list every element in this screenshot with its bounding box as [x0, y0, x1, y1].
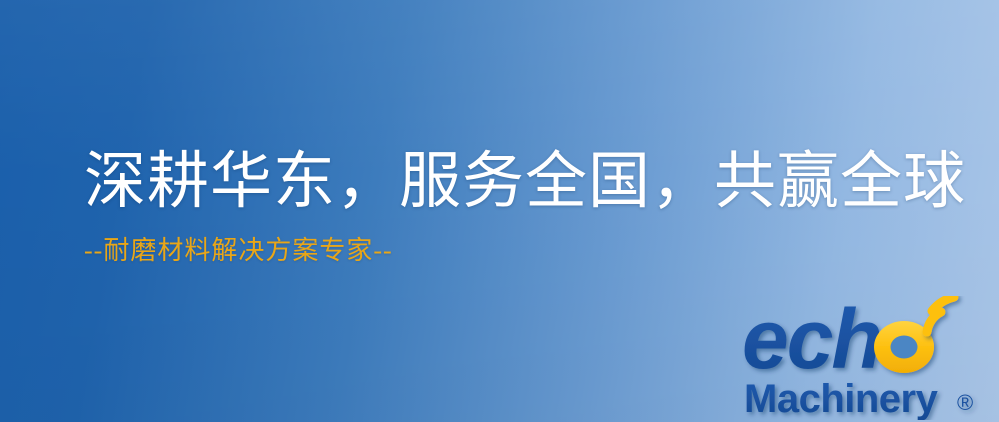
- banner-subheadline: --耐磨材料解决方案专家--: [84, 215, 966, 266]
- logo-text-ech: ech: [742, 296, 881, 386]
- logo-wordmark-echo: ech: [742, 296, 934, 386]
- echo-machinery-logo: ech Machinery ®: [742, 296, 992, 420]
- banner-text-block: 深耕华东，服务全国，共赢全球 --耐磨材料解决方案专家--: [84, 150, 966, 266]
- logo-tagline-machinery: Machinery: [744, 377, 939, 420]
- banner-headline: 深耕华东，服务全国，共赢全球: [84, 150, 966, 215]
- registered-trademark-icon: ®: [957, 390, 973, 415]
- hero-banner: 深耕华东，服务全国，共赢全球 --耐磨材料解决方案专家--: [0, 0, 999, 422]
- signal-waves-icon: [927, 297, 954, 332]
